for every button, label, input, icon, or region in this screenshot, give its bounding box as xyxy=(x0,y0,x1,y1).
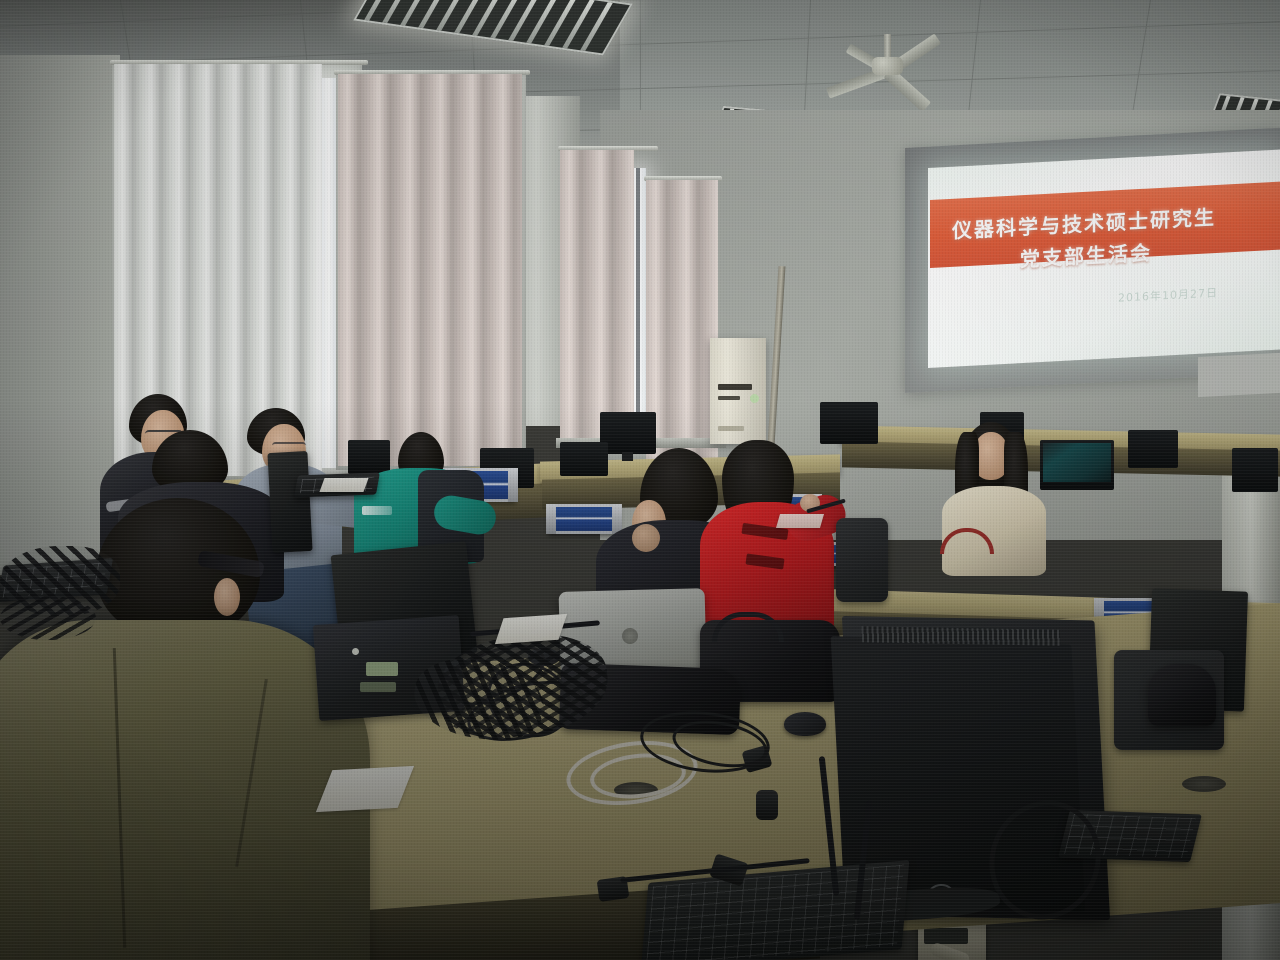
cable-tangle xyxy=(0,596,96,640)
person-body-olive-jacket xyxy=(0,620,370,960)
monitor xyxy=(1128,430,1178,468)
window-curtain xyxy=(646,180,718,460)
laptop-logo xyxy=(622,628,638,644)
monitor xyxy=(1232,448,1278,492)
instrument-case xyxy=(548,504,620,534)
paper-sheet xyxy=(319,478,368,492)
monitor xyxy=(1040,440,1114,490)
projection-screen-corner-shadow xyxy=(1198,353,1280,397)
mouse[interactable] xyxy=(784,712,826,736)
window-curtain xyxy=(338,74,522,466)
office-chair xyxy=(836,518,888,602)
paper-sheet xyxy=(495,614,567,644)
monitor xyxy=(348,440,390,474)
monitor-label-sticker xyxy=(366,662,398,676)
desk-cable-grommet xyxy=(1182,776,1226,792)
notebook xyxy=(776,514,824,528)
monitor xyxy=(560,442,608,476)
person-hand xyxy=(632,524,660,552)
person-ear xyxy=(214,578,240,616)
window-mullion xyxy=(636,168,640,438)
window-curtain xyxy=(560,150,634,450)
monitor xyxy=(600,412,656,454)
monitor xyxy=(267,451,312,553)
monitor-label-sticker xyxy=(360,682,396,692)
monitor-stand xyxy=(622,452,633,461)
ceiling-fan-motor xyxy=(872,57,903,75)
eyeglasses xyxy=(272,442,306,449)
jacket-logo xyxy=(362,506,392,515)
monitor xyxy=(820,402,878,444)
photo-scene: 仪器科学与技术硕士研究生 党支部生活会 2016年10月27日 xyxy=(0,0,1280,960)
daylight-gap xyxy=(322,78,336,468)
power-plug xyxy=(756,790,778,820)
shoulder-bag xyxy=(1148,664,1216,726)
monitor-power-led xyxy=(352,648,359,655)
desktop-pc-tower xyxy=(710,338,766,444)
